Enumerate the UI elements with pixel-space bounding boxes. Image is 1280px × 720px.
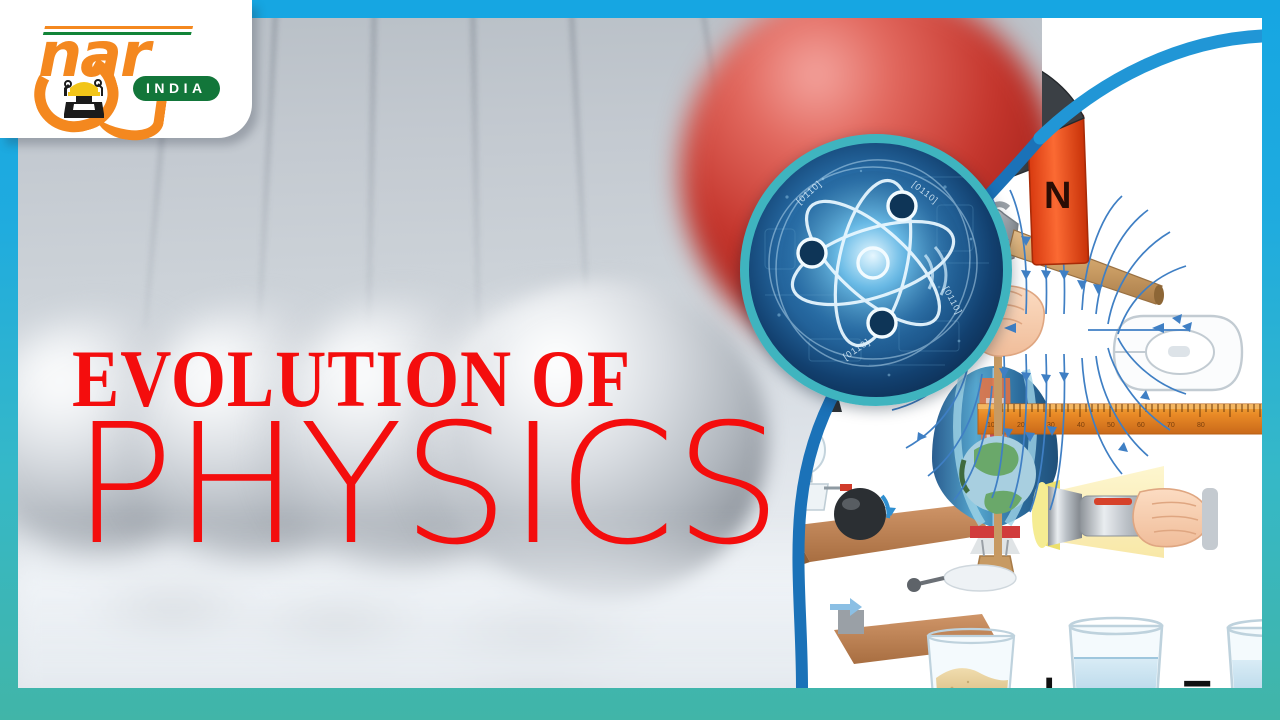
electron — [798, 239, 826, 267]
headline-line-2: PHYSICS — [72, 416, 781, 555]
electron — [868, 309, 896, 337]
atom-badge: [0110] [0110] [0110] [0110] — [740, 134, 1012, 406]
atom-illustration: [0110] [0110] [0110] [0110] — [749, 143, 1003, 397]
brand-logo-card[interactable]: nar INDIA — [0, 0, 252, 138]
svg-text:40: 40 — [1077, 422, 1085, 429]
cradle-string — [257, 18, 277, 330]
sun-icon — [860, 46, 950, 136]
ruler-icon: 1020 3040 5060 7080 — [978, 404, 1262, 434]
svg-text:60: 60 — [1137, 422, 1145, 429]
svg-text:20: 20 — [1017, 422, 1025, 429]
worker-icon — [62, 72, 106, 118]
page-title: EVOLUTION OF PHYSICS — [72, 340, 767, 556]
cradle-string — [471, 18, 480, 330]
equals-symbol: = — [1182, 662, 1212, 688]
beaker-mixture-icon — [1228, 620, 1262, 688]
magnet-north-label: N — [1044, 175, 1071, 217]
beaker-water-icon — [1070, 618, 1162, 688]
cradle-string — [367, 18, 376, 330]
beaker-sand-icon — [928, 629, 1014, 688]
poster-canvas: 1020 3040 5060 7080 — [0, 0, 1280, 720]
plus-symbol: + — [1034, 662, 1064, 688]
electron — [888, 192, 916, 220]
india-badge: INDIA — [133, 76, 220, 101]
computer-mouse-icon — [1114, 316, 1242, 390]
svg-text:80: 80 — [1197, 422, 1205, 429]
svg-text:50: 50 — [1107, 422, 1115, 429]
svg-text:10: 10 — [987, 422, 995, 429]
